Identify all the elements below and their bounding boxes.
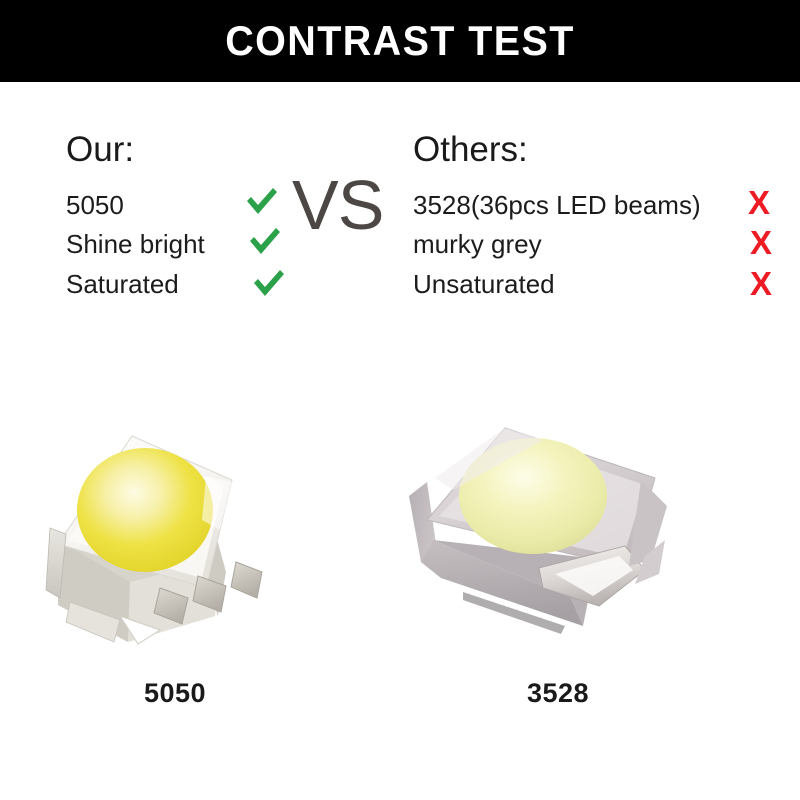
led-figure-3528: 3528 (393, 420, 723, 720)
our-feature-label: Saturated (66, 267, 179, 301)
led-caption-3528: 3528 (393, 678, 723, 709)
led-caption-5050: 5050 (10, 678, 340, 709)
page-title: CONTRAST TEST (24, 0, 776, 82)
our-feature-label: Shine bright (66, 227, 205, 261)
others-feature-row: 3528(36pcs LED beams) (413, 188, 753, 222)
led-3528-photo-icon (393, 420, 723, 650)
others-feature-row: murky grey (413, 227, 753, 261)
check-icon (248, 226, 282, 256)
cross-icon: X (750, 226, 772, 259)
cross-icon: X (750, 267, 772, 300)
comparison-section: Our: 5050 Shine bright Saturated VS Othe… (0, 82, 800, 402)
led-gallery: 5050 (0, 420, 800, 800)
others-feature-row: Unsaturated (413, 267, 753, 301)
contrast-test-page: CONTRAST TEST Our: 5050 Shine bright Sat… (0, 0, 800, 800)
others-column-heading: Others: (413, 130, 528, 170)
check-icon (252, 268, 286, 298)
our-feature-label: 5050 (66, 188, 124, 222)
vs-divider-label: VS (292, 170, 383, 240)
led-figure-5050: 5050 (10, 420, 340, 720)
our-column-heading: Our: (66, 130, 134, 170)
others-feature-label: Unsaturated (413, 267, 555, 301)
others-feature-label: murky grey (413, 227, 542, 261)
header-banner: CONTRAST TEST (0, 0, 800, 82)
check-icon (245, 186, 279, 216)
led-5050-photo-icon (10, 420, 340, 650)
led-5050-phosphor-dome (77, 448, 213, 572)
cross-icon: X (748, 186, 770, 219)
others-feature-label: 3528(36pcs LED beams) (413, 188, 701, 222)
